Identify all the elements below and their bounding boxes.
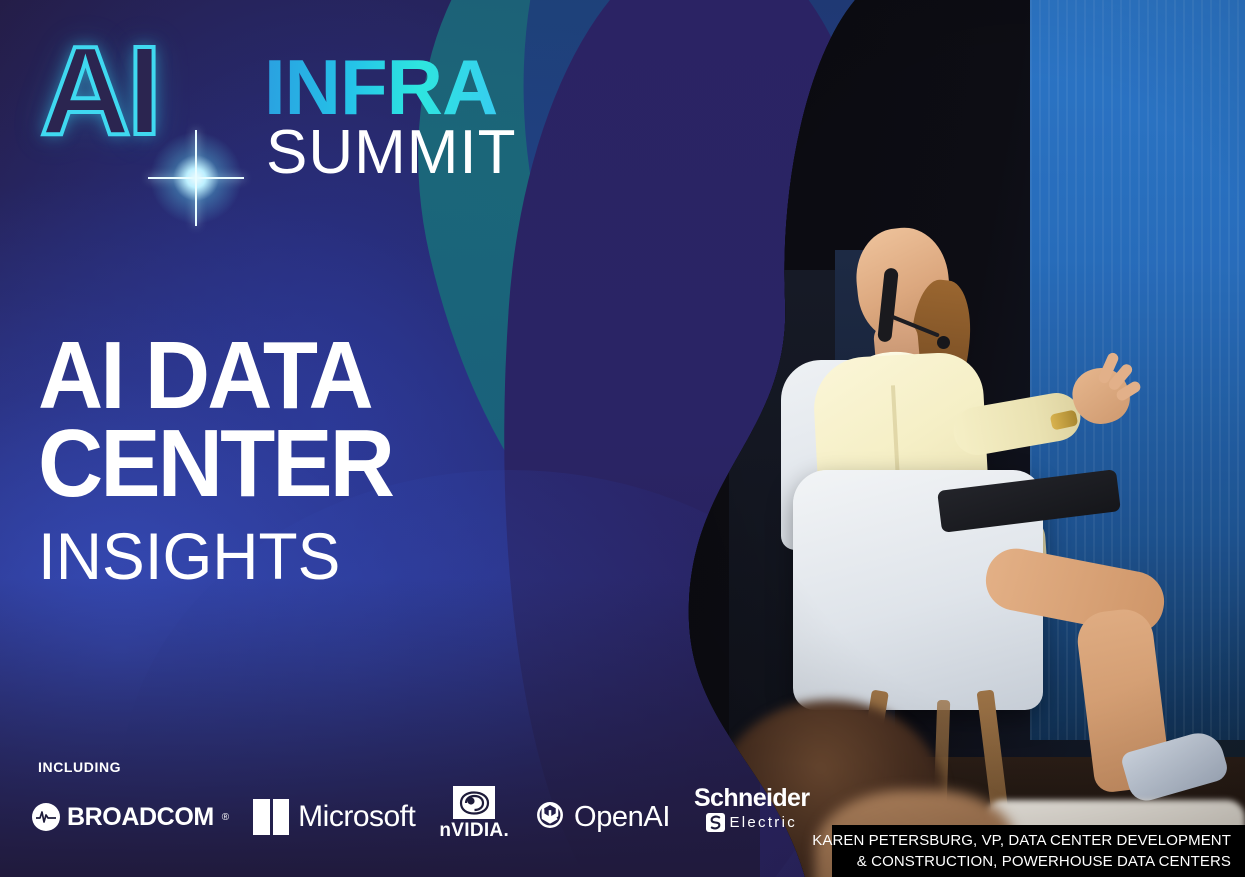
broadcom-trademark: ® <box>222 812 229 823</box>
schneider-wordmark: Schneider <box>694 786 809 811</box>
schneider-s-icon <box>706 813 725 832</box>
headline-line-1: AI DATA <box>38 332 527 420</box>
electric-wordmark: Electric <box>729 815 797 830</box>
microsoft-wordmark: Microsoft <box>298 800 415 834</box>
openai-knot-icon <box>533 798 567 837</box>
logo-ai-text: AI <box>40 28 158 154</box>
logo-summit-text: SUMMIT <box>266 122 517 184</box>
microsoft-squares-icon <box>253 799 289 835</box>
sponsor-schneider-electric: Schneider Electric <box>694 786 809 848</box>
broadcom-wave-icon <box>32 803 60 831</box>
sponsor-logo-row: BROADCOM ® Microsoft nVIDIA. <box>32 786 809 848</box>
sponsor-nvidia: nVIDIA. <box>439 786 509 848</box>
caption-line-2: & CONSTRUCTION, POWERHOUSE DATA CENTERS <box>857 851 1231 872</box>
openai-wordmark: OpenAI <box>574 801 670 834</box>
sponsor-openai: OpenAI <box>533 786 670 848</box>
headline-block: AI DATA CENTER INSIGHTS <box>38 332 558 589</box>
caption-line-1: KAREN PETERSBURG, VP, DATA CENTER DEVELO… <box>812 830 1231 851</box>
logo-infra-text: INFRA <box>264 48 497 126</box>
speaker-caption-bar: KAREN PETERSBURG, VP, DATA CENTER DEVELO… <box>832 825 1245 877</box>
ai-infra-summit-logo: AI INFRA SUMMIT <box>40 28 540 178</box>
promo-graphic: AI INFRA SUMMIT AI DATA CENTER INSIGHTS … <box>0 0 1245 877</box>
nvidia-eye-icon <box>453 786 495 819</box>
headline-subtitle: INSIGHTS <box>38 523 542 589</box>
broadcom-wordmark: BROADCOM <box>67 803 214 832</box>
sponsor-broadcom: BROADCOM ® <box>32 786 229 848</box>
sponsor-microsoft: Microsoft <box>253 786 415 848</box>
headline-line-2: CENTER <box>38 420 527 508</box>
nvidia-wordmark: nVIDIA. <box>439 820 509 842</box>
sponsors-label: INCLUDING <box>38 759 121 775</box>
